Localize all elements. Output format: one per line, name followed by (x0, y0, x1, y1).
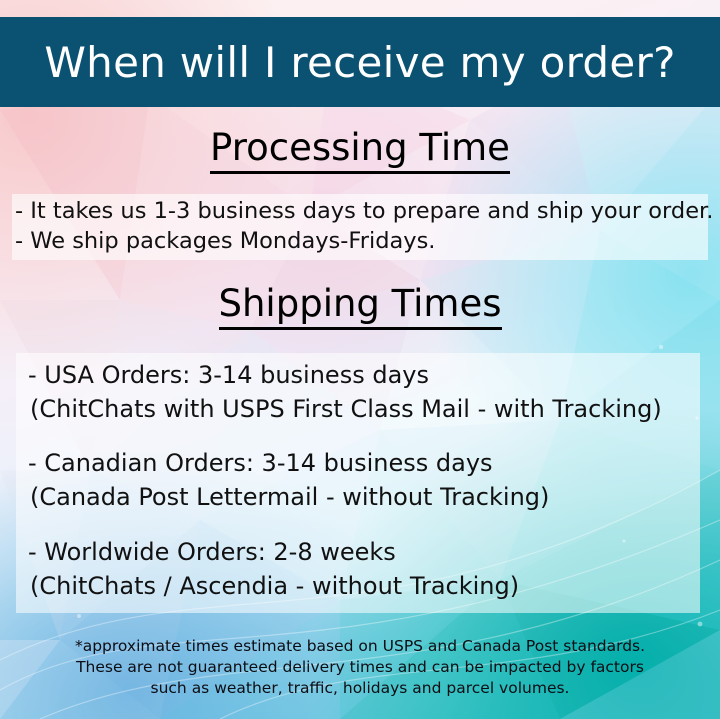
shipping-group-canada: - Canadian Orders: 3-14 business days (C… (16, 446, 700, 514)
footnote-disclaimer: *approximate times estimate based on USP… (0, 636, 720, 699)
shipping-group-main-line: - Worldwide Orders: 2-8 weeks (16, 535, 700, 569)
shipping-group-main-line: - Canadian Orders: 3-14 business days (16, 446, 700, 480)
processing-time-line: - We ship packages Mondays-Fridays. (12, 226, 708, 256)
footnote-line: These are not guaranteed delivery times … (0, 657, 720, 678)
header-banner: When will I receive my order? (0, 17, 720, 107)
shipping-group-worldwide: - Worldwide Orders: 2-8 weeks (ChitChats… (16, 535, 700, 603)
processing-time-body: - It takes us 1-3 business days to prepa… (12, 194, 708, 260)
footnote-line: *approximate times estimate based on USP… (0, 636, 720, 657)
shipping-group-sub-line: (ChitChats with USPS First Class Mail - … (16, 392, 700, 426)
shipping-group-sub-line: (Canada Post Lettermail - without Tracki… (16, 480, 700, 514)
shipping-times-heading-text: Shipping Times (219, 282, 502, 330)
shipping-times-panel: - USA Orders: 3-14 business days (ChitCh… (16, 353, 700, 613)
section-heading-shipping-times: Shipping Times (0, 282, 720, 325)
shipping-faq-infographic: When will I receive my order? Processing… (0, 0, 720, 719)
processing-time-heading-text: Processing Time (210, 126, 510, 174)
shipping-group-sub-line: (ChitChats / Ascendia - without Tracking… (16, 569, 700, 603)
page-title: When will I receive my order? (44, 38, 675, 87)
processing-time-line: - It takes us 1-3 business days to prepa… (12, 196, 708, 226)
shipping-group-usa: - USA Orders: 3-14 business days (ChitCh… (16, 358, 700, 426)
footnote-line: such as weather, traffic, holidays and p… (0, 678, 720, 699)
shipping-group-main-line: - USA Orders: 3-14 business days (16, 358, 700, 392)
section-heading-processing-time: Processing Time (0, 126, 720, 169)
